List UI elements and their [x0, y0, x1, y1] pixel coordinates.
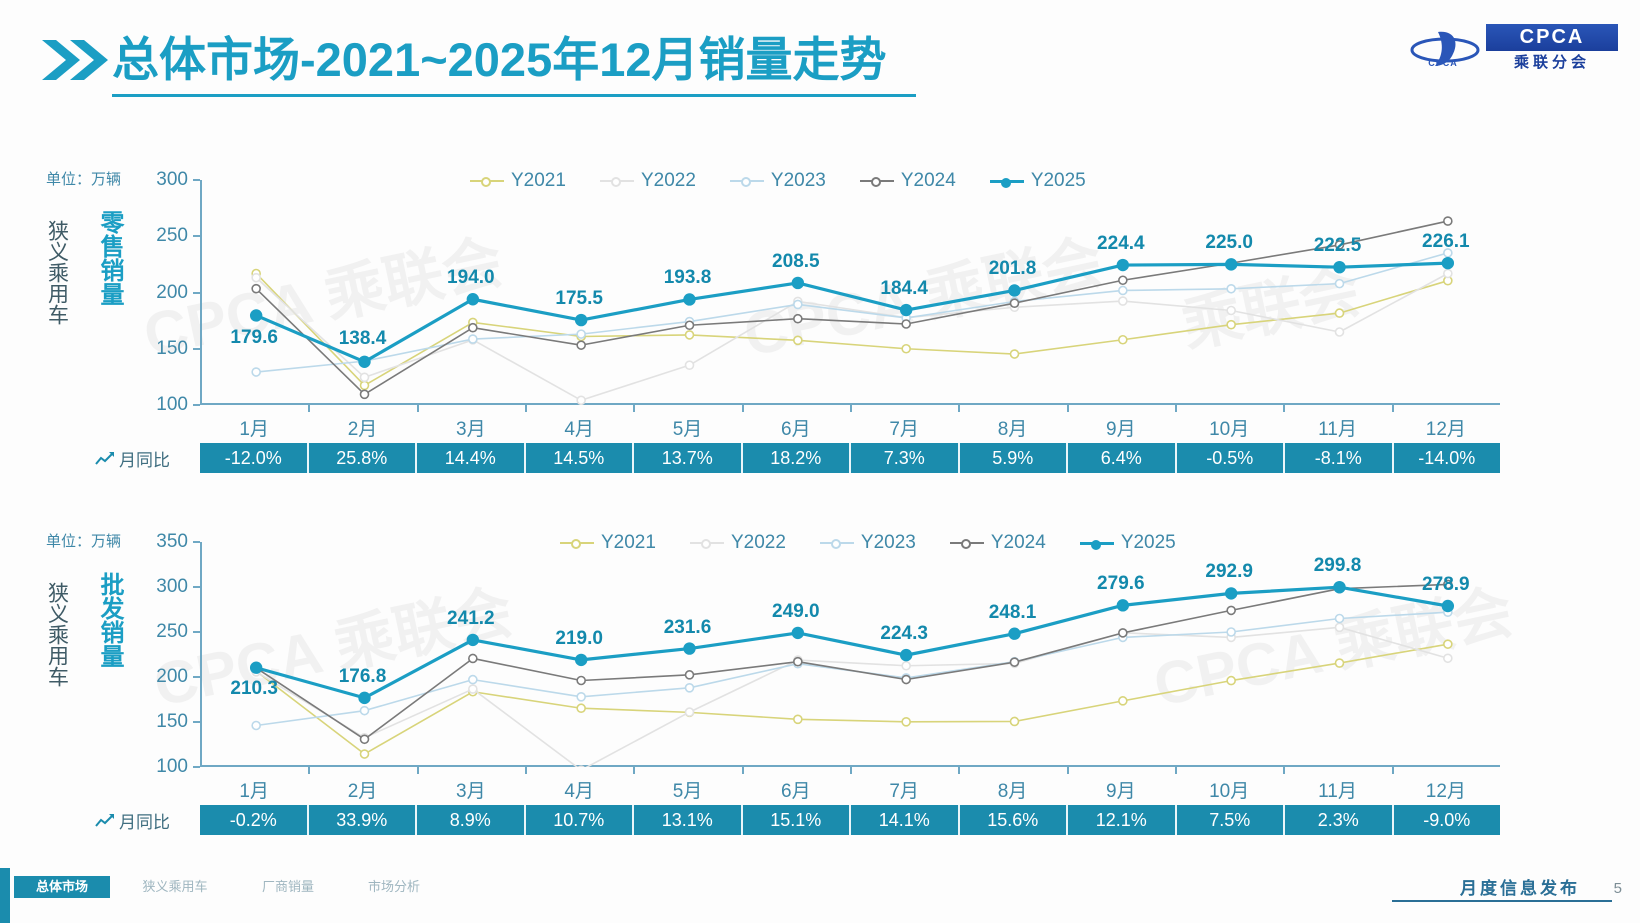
page-title: 总体市场-2021~2025年12月销量走势: [112, 30, 887, 90]
x-tick-label: 2月: [318, 414, 408, 441]
chart-lines-retail: [202, 180, 1502, 405]
percent-cell: 10.7%: [526, 805, 635, 835]
series-point-y2024: [1119, 276, 1127, 284]
y-tick-mark: [193, 676, 200, 678]
x-tick-mark: [958, 767, 960, 774]
series-point-y2021: [1011, 717, 1019, 725]
series-point-y2021: [1444, 640, 1452, 648]
x-tick-label: 5月: [643, 776, 733, 803]
series-point-y2023: [252, 722, 260, 730]
data-label: 194.0: [447, 267, 495, 289]
footer-tab-4[interactable]: 市场分析: [346, 876, 442, 898]
percent-cell: 15.6%: [960, 805, 1069, 835]
x-tick-label: 1月: [209, 414, 299, 441]
series-point-y2025: [1443, 601, 1453, 611]
series-point-y2023: [469, 335, 477, 343]
series-point-y2025: [468, 294, 478, 304]
x-tick-label: 8月: [968, 414, 1058, 441]
data-label: 219.0: [555, 628, 603, 650]
y-tick-label: 300: [136, 169, 188, 191]
x-tick-mark: [850, 405, 852, 412]
y-tick-label: 150: [136, 338, 188, 360]
percent-cell: 2.3%: [1285, 805, 1394, 835]
data-label: 179.6: [230, 327, 278, 349]
series-point-y2025: [1334, 582, 1344, 592]
x-tick-label: 12月: [1401, 776, 1491, 803]
cpca-logo: CPCA CPCA 乘联分会: [1408, 22, 1618, 74]
y-tick-mark: [193, 586, 200, 588]
series-point-y2023: [1336, 280, 1344, 288]
x-tick-label: 4月: [534, 776, 624, 803]
percent-cell: 7.5%: [1177, 805, 1286, 835]
series-line-y2022: [256, 627, 1448, 767]
series-point-y2022: [1336, 623, 1344, 631]
series-point-y2021: [1011, 350, 1019, 358]
series-line-y2022: [256, 273, 1448, 400]
x-tick-label: 11月: [1293, 776, 1383, 803]
x-tick-label: 4月: [534, 414, 624, 441]
series-point-y2021: [1336, 309, 1344, 317]
x-tick-label: 6月: [751, 776, 841, 803]
x-tick-mark: [1392, 767, 1394, 774]
x-tick-mark: [1283, 767, 1285, 774]
series-point-y2023: [1227, 628, 1235, 636]
series-point-y2021: [1336, 659, 1344, 667]
series-point-y2024: [361, 735, 369, 743]
series-point-y2025: [1226, 259, 1236, 269]
x-tick-label: 10月: [1184, 414, 1274, 441]
series-point-y2024: [794, 315, 802, 323]
series-line-y2021: [256, 273, 1448, 385]
series-point-y2025: [1226, 588, 1236, 598]
series-point-y2023: [252, 368, 260, 376]
series-point-y2024: [1119, 629, 1127, 637]
percent-cell: 8.9%: [417, 805, 526, 835]
series-point-y2025: [468, 635, 478, 645]
category-label-retail: 狭义乘用车: [42, 220, 72, 332]
data-label: 138.4: [339, 328, 387, 350]
x-tick-label: 9月: [1076, 776, 1166, 803]
series-point-y2025: [1009, 285, 1019, 295]
footer-tab-2[interactable]: 狭义乘用车: [120, 876, 230, 898]
series-point-y2021: [1227, 321, 1235, 329]
x-tick-label: 3月: [426, 414, 516, 441]
series-point-y2024: [1444, 217, 1452, 225]
series-point-y2023: [577, 330, 585, 338]
series-point-y2022: [902, 662, 910, 670]
series-point-y2021: [361, 750, 369, 758]
data-label: 224.3: [880, 623, 928, 645]
series-point-y2025: [684, 294, 694, 304]
y-tick-label: 250: [136, 225, 188, 247]
series-point-y2024: [252, 285, 260, 293]
series-point-y2021: [794, 336, 802, 344]
y-tick-label: 150: [136, 711, 188, 733]
percent-cell: 13.1%: [634, 805, 743, 835]
series-point-y2022: [686, 361, 694, 369]
logo-brand: CPCA: [1486, 24, 1618, 51]
series-point-y2023: [361, 707, 369, 715]
y-tick-label: 200: [136, 666, 188, 688]
x-tick-mark: [417, 767, 419, 774]
series-point-y2025: [251, 310, 261, 320]
x-tick-mark: [958, 405, 960, 412]
series-line-y2023: [256, 612, 1448, 725]
y-tick-label: 100: [136, 394, 188, 416]
data-label: 210.3: [230, 678, 278, 700]
y-tick-mark: [193, 721, 200, 723]
chart-retail-section: 单位：万辆 狭义乘用车 零售销量 Y2021Y2022Y2023Y2024Y20…: [0, 150, 1640, 480]
category-label-wholesale: 狭义乘用车: [42, 582, 72, 694]
series-point-y2024: [361, 390, 369, 398]
data-label: 226.1: [1422, 231, 1470, 253]
percent-cell: -9.0%: [1394, 805, 1501, 835]
series-point-y2025: [901, 650, 911, 660]
x-tick-label: 5月: [643, 414, 733, 441]
series-point-y2023: [1227, 285, 1235, 293]
y-tick-label: 350: [136, 531, 188, 553]
series-point-y2025: [359, 693, 369, 703]
x-tick-label: 11月: [1293, 414, 1383, 441]
series-point-y2021: [1227, 677, 1235, 685]
percent-cell: 14.4%: [417, 443, 526, 473]
percent-cell: -14.0%: [1394, 443, 1501, 473]
x-tick-mark: [850, 767, 852, 774]
percent-cell: 6.4%: [1068, 443, 1177, 473]
logo-brand-cn: 乘联分会: [1486, 52, 1618, 74]
series-point-y2022: [1119, 297, 1127, 305]
series-point-y2022: [1336, 328, 1344, 336]
y-tick-mark: [193, 292, 200, 294]
x-tick-label: 2月: [318, 776, 408, 803]
data-label: 299.8: [1314, 555, 1362, 577]
series-point-y2024: [902, 320, 910, 328]
trend-chart-icon: [95, 451, 115, 467]
x-tick-mark: [633, 767, 635, 774]
data-label: 241.2: [447, 608, 495, 630]
series-point-y2025: [1334, 262, 1344, 272]
series-point-y2024: [577, 677, 585, 685]
data-label: 292.9: [1205, 561, 1253, 583]
title-underline: [112, 94, 916, 97]
percent-cell: 5.9%: [960, 443, 1069, 473]
percent-row-label-retail: 月同比: [95, 446, 170, 471]
series-point-y2023: [1336, 615, 1344, 623]
footer-right-text: 月度信息发布: [1460, 874, 1580, 899]
x-tick-label: 1月: [209, 776, 299, 803]
series-line-y2025: [256, 587, 1448, 698]
data-label: 176.8: [339, 666, 387, 688]
data-label: 249.0: [772, 601, 820, 623]
x-tick-mark: [1283, 405, 1285, 412]
trend-chart-icon: [95, 813, 115, 829]
series-point-y2022: [361, 373, 369, 381]
series-point-y2021: [794, 715, 802, 723]
data-label: 193.8: [664, 267, 712, 289]
data-label: 279.6: [1097, 573, 1145, 595]
series-point-y2025: [901, 305, 911, 315]
percent-band-wholesale: -0.2%33.9%8.9%10.7%13.1%15.1%14.1%15.6%1…: [200, 805, 1500, 835]
unit-label-retail: 单位：万辆: [46, 168, 121, 189]
series-point-y2024: [1227, 606, 1235, 614]
slide-page: 总体市场-2021~2025年12月销量走势 CPCA CPCA 乘联分会 CP…: [0, 0, 1640, 923]
data-label: 201.8: [989, 258, 1037, 280]
series-point-y2023: [686, 684, 694, 692]
series-point-y2023: [577, 693, 585, 701]
series-point-y2021: [361, 381, 369, 389]
x-tick-label: 9月: [1076, 414, 1166, 441]
footer-tab-3[interactable]: 厂商销量: [240, 876, 336, 898]
plot-area-retail: [200, 180, 1500, 405]
x-tick-mark: [1067, 405, 1069, 412]
y-tick-mark: [193, 404, 200, 406]
percent-cell: 25.8%: [309, 443, 418, 473]
chart-wholesale-section: 单位：万辆 狭义乘用车 批发销量 Y2021Y2022Y2023Y2024Y20…: [0, 512, 1640, 842]
x-tick-mark: [742, 405, 744, 412]
x-tick-mark: [1392, 405, 1394, 412]
series-point-y2025: [1009, 629, 1019, 639]
series-point-y2022: [577, 396, 585, 404]
series-point-y2025: [251, 663, 261, 673]
series-point-y2024: [469, 654, 477, 662]
series-point-y2021: [1119, 697, 1127, 705]
series-line-y2024: [256, 221, 1448, 394]
x-tick-mark: [417, 405, 419, 412]
x-tick-mark: [308, 767, 310, 774]
data-label: 225.0: [1205, 232, 1253, 254]
series-point-y2021: [1119, 336, 1127, 344]
footer-tab-1[interactable]: 总体市场: [14, 876, 110, 898]
chart-lines-wholesale: [202, 542, 1502, 767]
unit-label-wholesale: 单位：万辆: [46, 530, 121, 551]
data-label: 222.5: [1314, 235, 1362, 257]
x-tick-mark: [308, 405, 310, 412]
x-tick-label: 6月: [751, 414, 841, 441]
x-tick-mark: [525, 405, 527, 412]
y-tick-mark: [193, 541, 200, 543]
series-point-y2022: [252, 274, 260, 282]
metric-label-wholesale: 批发销量: [92, 572, 124, 678]
series-point-y2022: [1227, 307, 1235, 315]
x-tick-mark: [525, 767, 527, 774]
y-tick-mark: [193, 235, 200, 237]
percent-cell: 7.3%: [851, 443, 960, 473]
x-tick-label: 3月: [426, 776, 516, 803]
series-point-y2023: [469, 676, 477, 684]
percent-cell: -8.1%: [1285, 443, 1394, 473]
y-tick-label: 300: [136, 576, 188, 598]
double-chevron-icon: [40, 38, 110, 82]
series-point-y2024: [686, 321, 694, 329]
data-label: 184.4: [880, 278, 928, 300]
series-point-y2022: [469, 685, 477, 693]
y-tick-mark: [193, 179, 200, 181]
series-point-y2024: [686, 671, 694, 679]
percent-band-retail: -12.0%25.8%14.4%14.5%13.7%18.2%7.3%5.9%6…: [200, 443, 1500, 473]
data-label: 175.5: [555, 288, 603, 310]
series-point-y2025: [793, 278, 803, 288]
percent-cell: 33.9%: [309, 805, 418, 835]
footer-rule: [1392, 900, 1612, 902]
y-tick-mark: [193, 766, 200, 768]
series-point-y2024: [902, 676, 910, 684]
series-point-y2021: [577, 704, 585, 712]
page-number: 5: [1614, 880, 1622, 897]
series-point-y2024: [794, 658, 802, 666]
data-label: 278.9: [1422, 574, 1470, 596]
x-tick-label: 7月: [859, 776, 949, 803]
series-point-y2025: [576, 315, 586, 325]
series-point-y2024: [577, 341, 585, 349]
x-tick-mark: [1175, 767, 1177, 774]
metric-label-retail: 零售销量: [92, 210, 124, 316]
slide-footer: 总体市场狭义乘用车厂商销量市场分析 月度信息发布: [0, 872, 1640, 923]
percent-cell: 14.5%: [526, 443, 635, 473]
x-tick-label: 12月: [1401, 414, 1491, 441]
percent-cell: 15.1%: [743, 805, 852, 835]
percent-cell: 18.2%: [743, 443, 852, 473]
percent-cell: 14.1%: [851, 805, 960, 835]
data-label: 231.6: [664, 617, 712, 639]
slide-header: 总体市场-2021~2025年12月销量走势 CPCA CPCA 乘联分会: [0, 0, 1640, 108]
series-point-y2021: [686, 331, 694, 339]
series-point-y2022: [1444, 269, 1452, 277]
x-tick-label: 8月: [968, 776, 1058, 803]
y-tick-label: 100: [136, 756, 188, 778]
series-point-y2025: [359, 357, 369, 367]
series-point-y2024: [1011, 658, 1019, 666]
x-tick-mark: [633, 405, 635, 412]
series-line-y2023: [256, 253, 1448, 372]
percent-cell: -0.2%: [200, 805, 309, 835]
series-point-y2025: [1118, 260, 1128, 270]
y-tick-label: 250: [136, 621, 188, 643]
y-tick-mark: [193, 348, 200, 350]
series-point-y2025: [684, 643, 694, 653]
percent-cell: 13.7%: [634, 443, 743, 473]
percent-row-label-wholesale: 月同比: [95, 808, 170, 833]
series-point-y2022: [1444, 654, 1452, 662]
series-point-y2025: [793, 628, 803, 638]
y-tick-label: 200: [136, 282, 188, 304]
data-label: 248.1: [989, 602, 1037, 624]
y-tick-mark: [193, 631, 200, 633]
series-point-y2023: [794, 300, 802, 308]
series-point-y2021: [902, 718, 910, 726]
x-tick-mark: [742, 767, 744, 774]
series-point-y2022: [577, 766, 585, 767]
x-tick-mark: [1067, 767, 1069, 774]
logo-subtext: CPCA: [1410, 58, 1476, 68]
x-tick-label: 7月: [859, 414, 949, 441]
series-point-y2024: [469, 324, 477, 332]
series-point-y2024: [1011, 299, 1019, 307]
series-point-y2025: [576, 655, 586, 665]
series-point-y2021: [902, 345, 910, 353]
x-tick-label: 10月: [1184, 776, 1274, 803]
x-tick-mark: [1175, 405, 1177, 412]
percent-cell: -12.0%: [200, 443, 309, 473]
series-point-y2025: [1118, 600, 1128, 610]
percent-cell: -0.5%: [1177, 443, 1286, 473]
series-point-y2023: [1119, 286, 1127, 294]
data-label: 208.5: [772, 251, 820, 273]
series-point-y2022: [686, 708, 694, 716]
data-label: 224.4: [1097, 233, 1145, 255]
series-point-y2025: [1443, 258, 1453, 268]
percent-cell: 12.1%: [1068, 805, 1177, 835]
plot-area-wholesale: [200, 542, 1500, 767]
